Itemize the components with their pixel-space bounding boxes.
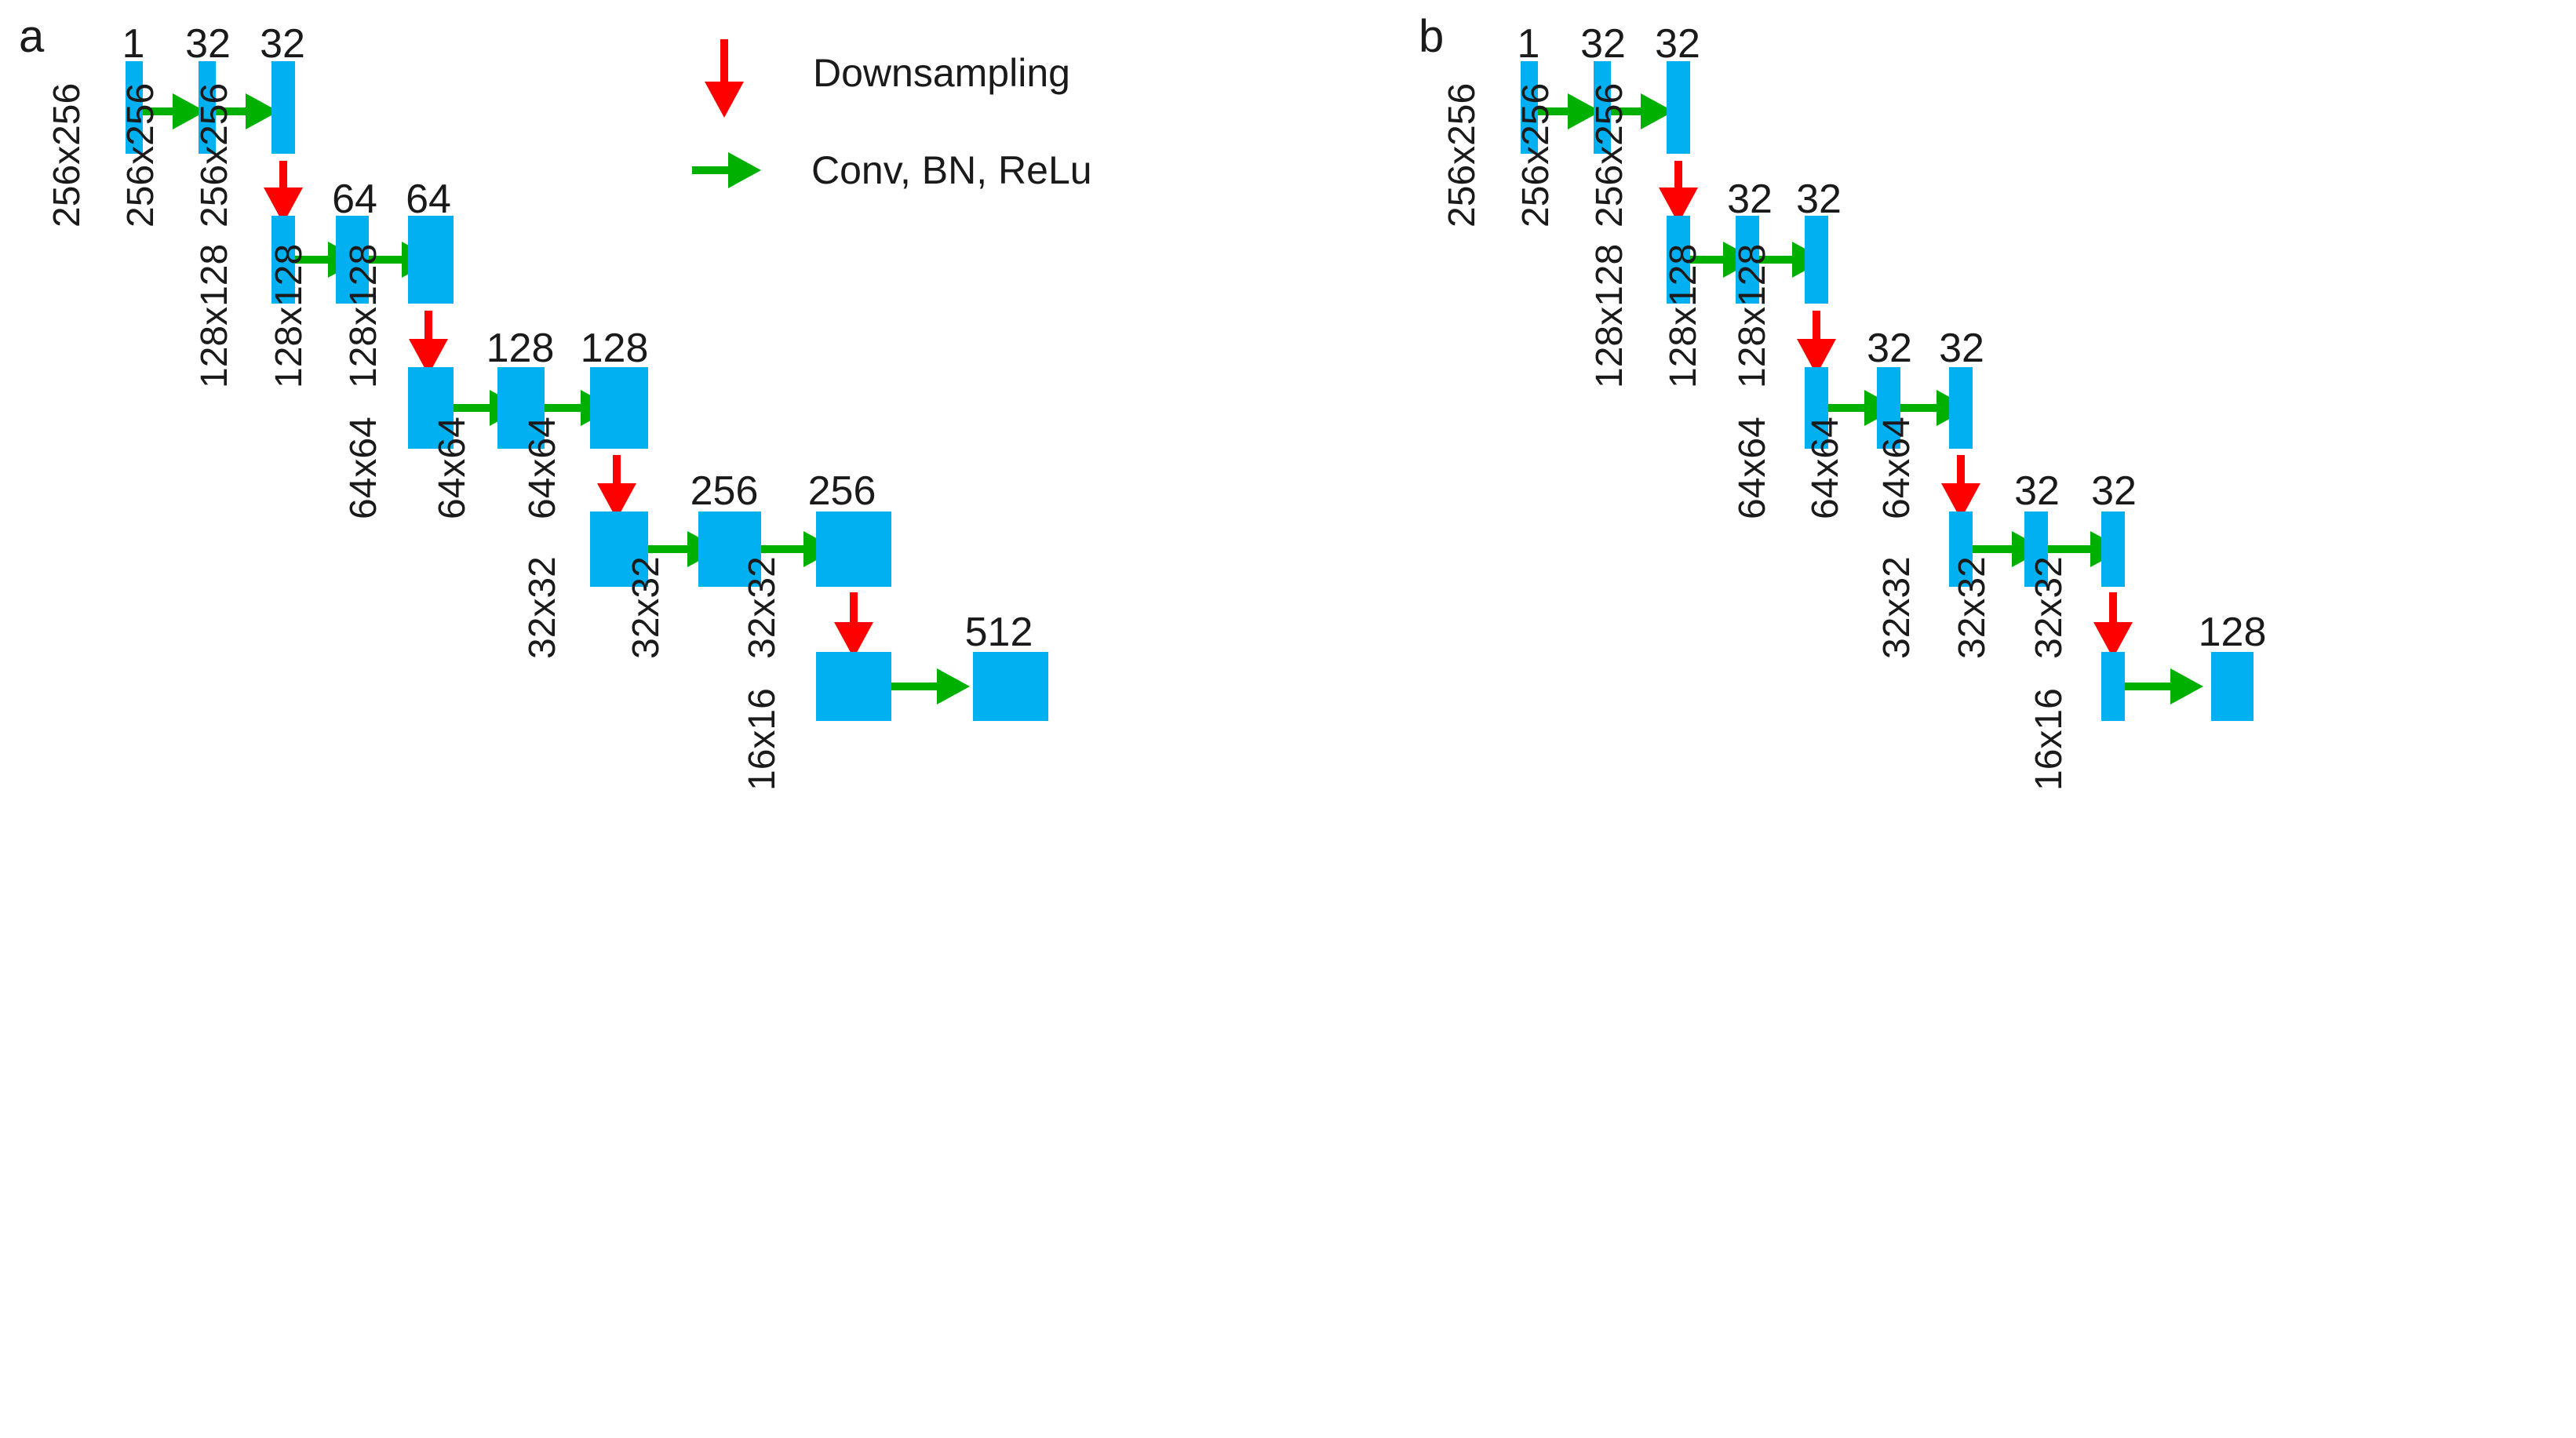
- channel-label: 32: [1858, 328, 1921, 369]
- feature-block: [590, 367, 648, 449]
- red-down-arrow-icon: [690, 31, 761, 118]
- channel-label: 128: [477, 328, 563, 369]
- legend-label: Downsampling: [813, 50, 1070, 96]
- feature-block: [2101, 652, 2125, 721]
- resolution-label: 256x256: [196, 83, 234, 228]
- channel-label: 256: [799, 471, 885, 511]
- channel-label: 1: [1497, 24, 1560, 64]
- resolution-label: 128x128: [196, 244, 234, 388]
- feature-block: [408, 216, 454, 304]
- panel-letter-b: b: [1419, 14, 1444, 60]
- legend-label: Conv, BN, ReLu: [811, 147, 1092, 193]
- resolution-label: 32x32: [524, 556, 562, 659]
- channel-label: 256: [681, 471, 767, 511]
- channel-label: 32: [1572, 24, 1634, 64]
- resolution-label: 32x32: [2031, 556, 2068, 659]
- channel-label: 64: [323, 179, 386, 220]
- resolution-label: 64x64: [1734, 417, 1772, 519]
- resolution-label: 64x64: [434, 417, 472, 519]
- resolution-label: 128x128: [1665, 244, 1703, 388]
- legend: Downsampling Conv, BN, ReLu: [690, 31, 1177, 220]
- channel-label: 32: [251, 24, 314, 64]
- channel-label: 32: [2082, 471, 2145, 511]
- feature-block: [271, 61, 295, 154]
- resolution-label: 16x16: [744, 688, 782, 791]
- feature-block: [1805, 216, 1828, 304]
- resolution-label: 32x32: [1878, 556, 1916, 659]
- resolution-label: 256x256: [1518, 83, 1555, 228]
- legend-item-downsampling: Downsampling: [690, 31, 1070, 118]
- feature-block: [2211, 652, 2254, 721]
- resolution-label: 128x128: [1591, 244, 1629, 388]
- channel-label: 128: [571, 328, 658, 369]
- panel-letter-a: a: [19, 14, 44, 60]
- resolution-label: 128x128: [345, 244, 383, 388]
- channel-label: 32: [2006, 471, 2068, 511]
- resolution-label: 256x256: [1591, 83, 1629, 228]
- channel-label: 32: [177, 24, 239, 64]
- resolution-label: 64x64: [1807, 417, 1845, 519]
- feature-block: [816, 652, 891, 721]
- channel-label: 32: [1787, 179, 1850, 220]
- channel-label: 128: [2189, 612, 2275, 653]
- resolution-label: 256x256: [49, 83, 86, 228]
- legend-item-conv: Conv, BN, ReLu: [690, 147, 1092, 193]
- channel-label: 32: [1718, 179, 1781, 220]
- feature-block: [816, 511, 891, 587]
- resolution-label: 16x16: [2031, 688, 2068, 791]
- channel-label: 64: [397, 179, 460, 220]
- resolution-label: 32x32: [744, 556, 782, 659]
- resolution-label: 64x64: [1878, 417, 1916, 519]
- feature-block: [973, 652, 1048, 721]
- resolution-label: 64x64: [345, 417, 383, 519]
- resolution-label: 128x128: [1734, 244, 1772, 388]
- resolution-label: 64x64: [524, 417, 562, 519]
- channel-label: 32: [1646, 24, 1709, 64]
- resolution-label: 256x256: [122, 83, 160, 228]
- feature-block: [1949, 367, 1973, 449]
- channel-label: 512: [956, 612, 1042, 653]
- resolution-label: 128x128: [271, 244, 308, 388]
- feature-block: [1667, 61, 1690, 154]
- resolution-label: 32x32: [628, 556, 665, 659]
- resolution-label: 32x32: [1954, 556, 1991, 659]
- channel-label: 32: [1930, 328, 1993, 369]
- figure-canvas: a 1 256x256 32 256x256 32 256x256 128x12…: [0, 0, 2576, 1438]
- green-right-arrow-icon: [690, 151, 766, 190]
- resolution-label: 256x256: [1444, 83, 1481, 228]
- channel-label: 1: [102, 24, 165, 64]
- feature-block: [2101, 511, 2125, 587]
